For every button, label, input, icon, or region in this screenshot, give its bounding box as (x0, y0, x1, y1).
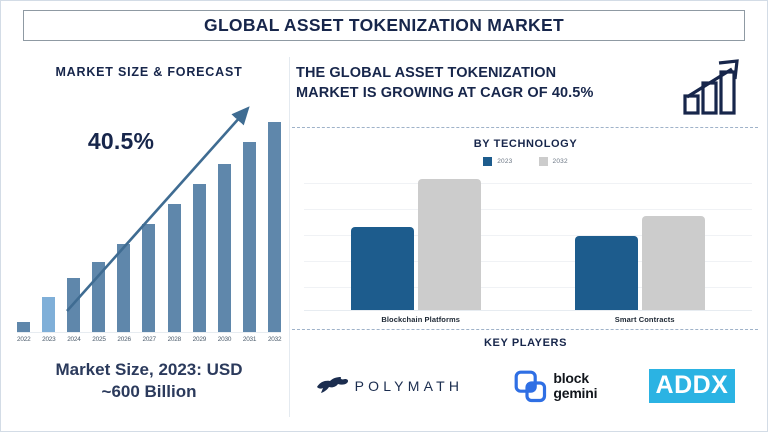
legend-label: 2023 (497, 158, 512, 165)
polymath-wordmark: POLYMATH (355, 378, 464, 394)
block-gemini-square-icon (514, 370, 547, 403)
key-player-polymath: POLYMATH (316, 376, 464, 396)
forecast-year-label: 2028 (168, 336, 181, 343)
bar-chart-arrow-up-icon (682, 59, 752, 115)
forecast-bar (268, 122, 281, 332)
growth-headline: THE GLOBAL ASSET TOKENIZATION MARKET IS … (296, 63, 676, 103)
forecast-bar (17, 322, 30, 332)
infographic-page: GLOBAL ASSET TOKENIZATION MARKET MARKET … (0, 0, 768, 432)
forecast-year-label: 2025 (92, 336, 105, 343)
tech-category-label: Blockchain Platforms (381, 315, 460, 324)
legend-item: 2023 (483, 157, 512, 166)
page-title: GLOBAL ASSET TOKENIZATION MARKET (204, 15, 564, 36)
legend-swatch (539, 157, 548, 166)
addx-wordmark: ADDX (656, 371, 729, 400)
by-technology-title: BY TECHNOLOGY (290, 138, 761, 150)
market-size-panel: MARKET SIZE & FORECAST 40.5% 20222023202… (9, 49, 289, 425)
forecast-year-label: 2032 (268, 336, 281, 343)
forecast-year-label: 2031 (243, 336, 256, 343)
tech-bar (642, 216, 705, 311)
block-gemini-line2: gemini (553, 386, 597, 401)
forecast-bar (243, 142, 256, 332)
divider-top (292, 127, 758, 128)
by-technology-legend: 20232032 (290, 157, 761, 166)
forecast-bar (218, 164, 231, 332)
forecast-bar-chart (17, 107, 281, 332)
details-panel: THE GLOBAL ASSET TOKENIZATION MARKET IS … (290, 49, 761, 425)
forecast-year-label: 2027 (142, 336, 155, 343)
market-size-footer-line2: ~600 Billion (9, 381, 289, 403)
bar-group (351, 179, 481, 311)
page-title-box: GLOBAL ASSET TOKENIZATION MARKET (23, 10, 745, 41)
block-gemini-line1: block (553, 371, 597, 386)
forecast-bar (168, 204, 181, 332)
forecast-bar (142, 224, 155, 332)
forecast-year-label: 2026 (117, 336, 130, 343)
key-player-block-gemini: block gemini (514, 370, 597, 403)
by-technology-category-axis: Blockchain PlatformsSmart Contracts (304, 315, 752, 324)
divider-bottom (292, 329, 758, 330)
forecast-bar (117, 244, 130, 332)
market-size-footer: Market Size, 2023: USD ~600 Billion (9, 359, 289, 404)
forecast-bar (193, 184, 206, 332)
by-technology-baseline (304, 310, 752, 311)
key-player-addx: ADDX (649, 369, 736, 403)
market-size-footer-line1: Market Size, 2023: USD (9, 359, 289, 381)
forecast-bar (42, 297, 55, 332)
growth-headline-line1: THE GLOBAL ASSET TOKENIZATION (296, 63, 676, 83)
by-technology-chart (304, 175, 752, 311)
market-size-section-header: MARKET SIZE & FORECAST (9, 65, 289, 79)
forecast-bar (92, 262, 105, 332)
legend-label: 2032 (553, 158, 568, 165)
forecast-baseline (17, 332, 281, 333)
forecast-year-label: 2030 (218, 336, 231, 343)
tech-bar (575, 236, 638, 311)
block-gemini-wordmark: block gemini (553, 371, 597, 400)
key-players-title: KEY PLAYERS (290, 337, 761, 349)
legend-item: 2032 (539, 157, 568, 166)
bull-icon (316, 376, 350, 396)
forecast-year-label: 2023 (42, 336, 55, 343)
growth-headline-line2: MARKET IS GROWING AT CAGR OF 40.5% (296, 83, 676, 103)
tech-category-label: Smart Contracts (615, 315, 675, 324)
forecast-year-label: 2022 (17, 336, 30, 343)
tech-bar (418, 179, 481, 311)
forecast-year-label: 2024 (67, 336, 80, 343)
bar-group (575, 216, 705, 311)
forecast-bar (67, 278, 80, 332)
legend-swatch (483, 157, 492, 166)
tech-bar (351, 227, 414, 311)
forecast-year-axis: 2022202320242025202620272028202920302031… (17, 336, 281, 343)
key-players-row: POLYMATH block gemini ADDX (290, 355, 761, 417)
forecast-year-label: 2029 (193, 336, 206, 343)
